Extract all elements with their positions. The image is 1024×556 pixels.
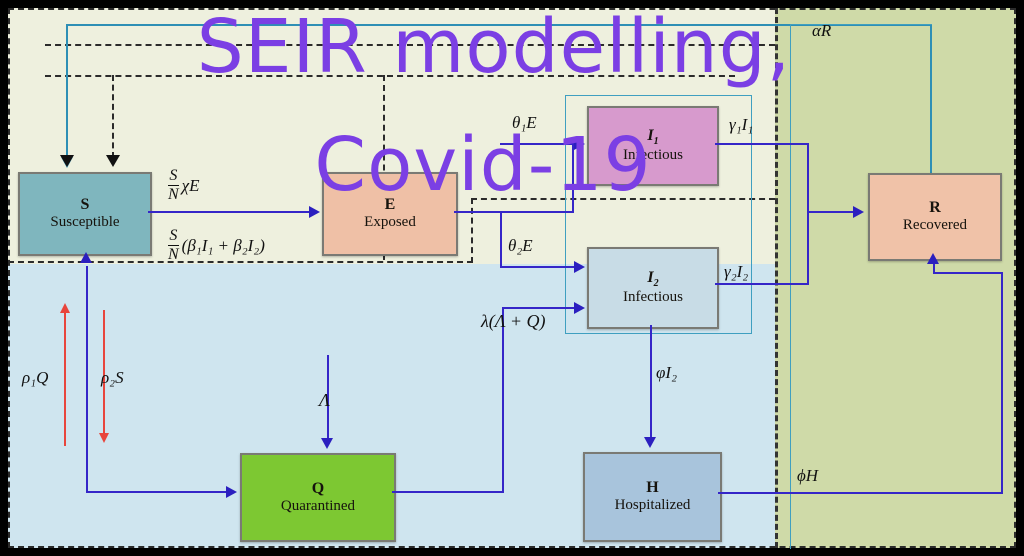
- flow-e-to-i2-arrowhead: [574, 261, 585, 273]
- label-s-to-e-lower-tail: (β₁I₁ + β₂I₂): [182, 236, 265, 256]
- flow-s-to-e-arrowhead: [309, 206, 320, 218]
- seir-diagram-canvas: S Susceptible E Exposed I1 Infectious I2…: [0, 0, 1024, 556]
- dashed-inflow-arrowhead-left: [60, 155, 74, 167]
- node-exposed-symbol: E: [385, 197, 396, 214]
- label-phi-h: ϕH: [797, 466, 818, 486]
- rate-rho2-s-arrowhead: [99, 433, 109, 443]
- flow-e-trunk-horizontal: [454, 211, 574, 213]
- node-quarantined[interactable]: Q Quarantined: [240, 453, 396, 542]
- flow-e-to-i1-horizontal: [500, 143, 576, 145]
- flow-i2-to-h-vertical: [650, 325, 652, 439]
- node-recovered-label: Recovered: [903, 218, 967, 234]
- flow-i2-to-r-horizontal: [715, 283, 809, 285]
- flow-to-r-merge-horizontal: [807, 211, 855, 213]
- label-theta1-e: θ₁E: [512, 113, 537, 133]
- dashed-drop-right: [112, 75, 114, 158]
- flow-h-to-r-horizontal: [718, 492, 1003, 494]
- node-infectious-2-label: Infectious: [623, 290, 683, 306]
- flow-s-to-q-arrowhead: [226, 486, 237, 498]
- node-quarantined-symbol: Q: [312, 481, 324, 498]
- dashed-region-right-edge: [471, 198, 473, 263]
- dashed-inflow-arrowhead-right: [106, 155, 120, 167]
- label-s-to-e-lower-den: N: [168, 247, 179, 263]
- node-infectious-2[interactable]: I2 Infectious: [587, 247, 719, 329]
- flow-h-to-r-arrowhead: [927, 253, 939, 264]
- label-theta2-e: θ₂E: [508, 236, 533, 256]
- node-exposed-label: Exposed: [364, 215, 416, 231]
- node-recovered[interactable]: R Recovered: [868, 173, 1002, 261]
- flow-q-to-i2-horizontal-top: [502, 307, 576, 309]
- node-hospitalized[interactable]: H Hospitalized: [583, 452, 722, 542]
- label-alpha-r: αR: [812, 21, 831, 41]
- flow-i2-to-r-vertical: [807, 211, 809, 285]
- flow-q-to-i2-horizontal-bottom: [392, 491, 504, 493]
- flow-e-to-i1-arrowhead: [574, 138, 585, 150]
- label-s-to-e-lower: S N (β₁I₁ + β₂I₂): [168, 228, 265, 263]
- label-capital-lambda: Λ: [319, 390, 330, 411]
- flow-e-branch-down: [500, 211, 502, 268]
- node-susceptible-label: Susceptible: [50, 215, 119, 231]
- flow-s-to-q-vertical: [86, 266, 88, 493]
- node-susceptible[interactable]: S Susceptible: [18, 172, 152, 256]
- flow-h-to-r-top-horizontal: [933, 272, 1003, 274]
- node-infectious-1[interactable]: I1 Infectious: [587, 106, 719, 186]
- node-recovered-symbol: R: [929, 200, 941, 217]
- node-susceptible-symbol: S: [81, 197, 90, 214]
- flow-to-r-arrowhead: [853, 206, 864, 218]
- node-infectious-1-symbol: I1: [647, 128, 658, 148]
- label-s-to-e-upper-tail: χE: [182, 176, 200, 196]
- flow-q-to-s-arrowhead: [80, 252, 92, 263]
- flow-i1-to-r-horizontal: [715, 143, 809, 145]
- vertical-dashed-divider: [775, 8, 778, 548]
- node-hospitalized-label: Hospitalized: [615, 498, 691, 514]
- rate-rho1-q-shaft: [64, 312, 66, 446]
- node-infectious-2-symbol: I2: [647, 270, 658, 290]
- flow-q-to-i2-vertical: [502, 307, 504, 493]
- label-s-to-e-lower-num: S: [168, 228, 179, 244]
- dashed-rule-upper: [45, 44, 775, 46]
- node-exposed[interactable]: E Exposed: [322, 172, 458, 256]
- node-quarantined-label: Quarantined: [281, 499, 355, 515]
- node-infectious-1-label: Infectious: [623, 148, 683, 164]
- flow-i2-to-h-arrowhead: [644, 437, 656, 448]
- label-s-to-e-upper: S N χE: [168, 168, 200, 203]
- label-lambda-inflow-q: λ(Λ + Q): [481, 311, 545, 332]
- label-gamma2-i2: γ₂I₂: [724, 262, 748, 282]
- flow-s-to-q-horizontal: [86, 491, 228, 493]
- node-hospitalized-symbol: H: [646, 480, 658, 497]
- label-rho2-s: ρ₂S: [101, 368, 124, 388]
- recovery-loop-segment-vertical-left: [66, 24, 68, 158]
- rate-rho1-q-arrowhead: [60, 303, 70, 313]
- dashed-rule-lower: [45, 75, 735, 77]
- flow-s-to-e-line: [148, 211, 316, 213]
- flow-e-to-i2-horizontal: [500, 266, 576, 268]
- label-gamma1-i1: γ₁I₁: [729, 115, 753, 135]
- label-s-to-e-upper-den: N: [168, 187, 179, 203]
- flow-h-to-r-vertical: [1001, 272, 1003, 494]
- flow-q-to-s-stub: [86, 266, 88, 268]
- flow-q-to-i2-arrowhead: [574, 302, 585, 314]
- flow-i1-to-r-vertical: [807, 143, 809, 213]
- label-s-to-e-upper-num: S: [168, 168, 179, 184]
- label-phi-i2: φI₂: [656, 363, 677, 383]
- label-rho1-q: ρ₁Q: [22, 368, 48, 388]
- flow-lambda-to-q-arrowhead: [321, 438, 333, 449]
- flow-e-branch-up: [572, 143, 574, 213]
